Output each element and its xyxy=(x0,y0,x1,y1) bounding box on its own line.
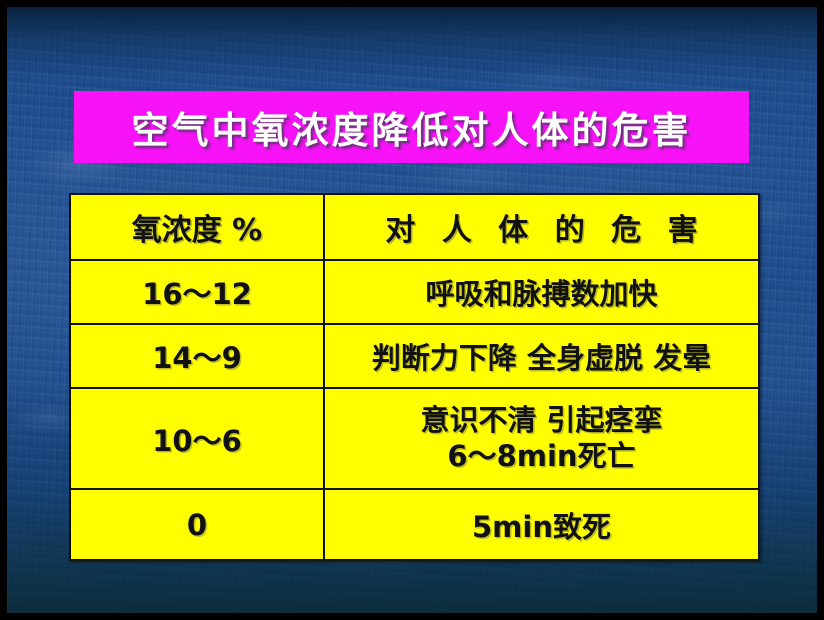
cell-hazard: 意识不清 引起痉挛 6～8min死亡 xyxy=(324,388,759,489)
cell-concentration: 14～9 xyxy=(70,324,324,388)
cell-concentration: 0 xyxy=(70,489,324,560)
cell-hazard-line-1: 意识不清 引起痉挛 xyxy=(325,403,758,438)
table-row: 0 5min致死 xyxy=(70,489,759,560)
page-title: 空气中氧浓度降低对人体的危害 xyxy=(132,100,692,154)
cell-hazard: 呼吸和脉搏数加快 xyxy=(324,260,759,324)
table-header-row: 氧浓度 % 对 人 体 的 危 害 xyxy=(70,194,759,260)
oxygen-hazard-table: 氧浓度 % 对 人 体 的 危 害 16～12 呼吸和脉搏数加快 14～9 判断… xyxy=(69,193,760,561)
title-banner: 空气中氧浓度降低对人体的危害 xyxy=(74,91,749,163)
cell-concentration: 10～6 xyxy=(70,388,324,489)
presentation-slide: 空气中氧浓度降低对人体的危害 氧浓度 % 对 人 体 的 危 害 16～12 呼… xyxy=(0,0,824,620)
cell-concentration: 16～12 xyxy=(70,260,324,324)
cell-hazard: 判断力下降 全身虚脱 发晕 xyxy=(324,324,759,388)
table-row: 14～9 判断力下降 全身虚脱 发晕 xyxy=(70,324,759,388)
table-row: 16～12 呼吸和脉搏数加快 xyxy=(70,260,759,324)
column-header-hazard: 对 人 体 的 危 害 xyxy=(324,194,759,260)
cell-hazard-line-2: 6～8min死亡 xyxy=(325,439,758,474)
cell-hazard: 5min致死 xyxy=(324,489,759,560)
table-row: 10～6 意识不清 引起痉挛 6～8min死亡 xyxy=(70,388,759,489)
column-header-concentration: 氧浓度 % xyxy=(70,194,324,260)
